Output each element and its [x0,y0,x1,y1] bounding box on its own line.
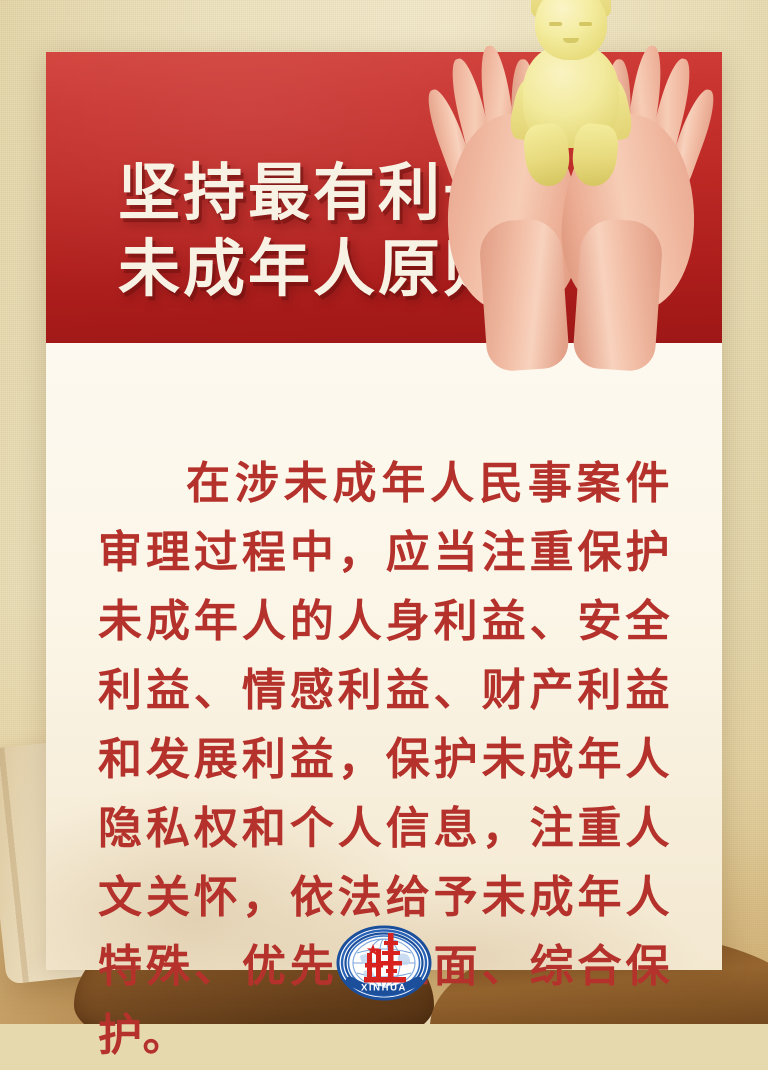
baby-leg-right [570,122,620,188]
right-hand-wrist [572,217,664,372]
baby-figure [509,0,633,196]
baby-mouth [563,38,579,43]
xinhua-news-agency-logo: XINHUA [336,925,432,1001]
baby-eye-right [579,22,592,26]
baby-eye-left [549,22,562,26]
poster-body-panel: 在涉未成年人民事案件审理过程中，应当注重保护未成年人的人身利益、安全利益、情感利… [46,343,722,970]
logo-wordmark: XINHUA [361,983,407,994]
baby-leg-left [522,122,572,188]
hands-holding-baby-sculpture [435,0,707,370]
baby-head [535,0,607,60]
